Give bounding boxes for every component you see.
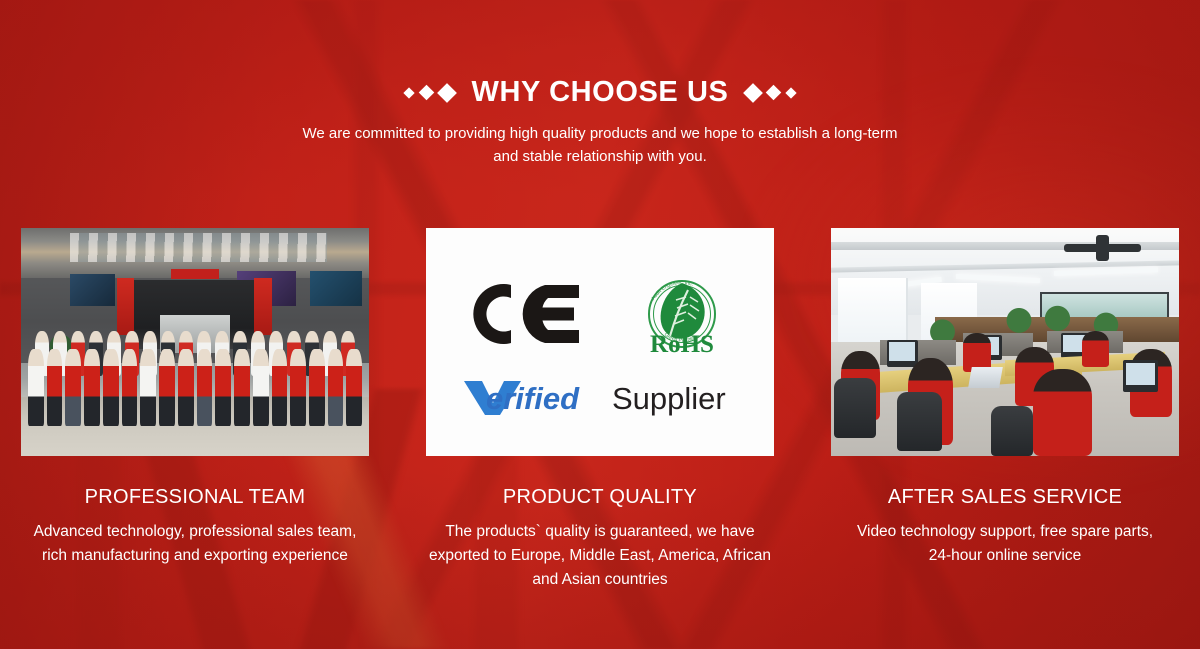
column-body: Video technology support, free spare par… <box>831 520 1179 568</box>
diamond-icon <box>419 85 435 101</box>
rohs-badge-icon: Audit Engineer, Inc. Green Partner RoHS <box>630 266 734 362</box>
office-staff-photo <box>831 228 1179 456</box>
banner-header: WHY CHOOSE US We are committed to provid… <box>0 0 1200 168</box>
feature-column-professional-team: PROFESSIONAL TEAM Advanced technology, p… <box>21 228 369 568</box>
diamond-icon <box>404 87 415 98</box>
team-group-photo <box>21 228 369 456</box>
svg-text:RoHS: RoHS <box>650 331 714 358</box>
feature-column-product-quality: Audit Engineer, Inc. Green Partner RoHS <box>426 228 774 592</box>
diamond-ornament-right-icon <box>746 86 795 100</box>
column-title: AFTER SALES SERVICE <box>831 486 1179 509</box>
certification-panel: Audit Engineer, Inc. Green Partner RoHS <box>426 228 774 456</box>
page-title: WHY CHOOSE US <box>471 76 728 109</box>
column-body: The products` quality is guaranteed, we … <box>426 520 774 592</box>
office-photo-illustration <box>831 228 1179 456</box>
svg-text:erified: erified <box>486 381 580 416</box>
diamond-ornament-left-icon <box>405 86 454 100</box>
why-choose-us-banner: WHY CHOOSE US We are committed to provid… <box>0 0 1200 649</box>
diamond-icon <box>785 87 796 98</box>
ce-mark-icon <box>466 277 584 351</box>
page-subtitle: We are committed to providing high quali… <box>290 122 910 168</box>
diamond-icon <box>743 83 763 103</box>
svg-text:Supplier: Supplier <box>612 381 726 416</box>
column-title: PRODUCT QUALITY <box>426 486 774 509</box>
team-photo-illustration <box>21 228 369 456</box>
diamond-icon <box>438 83 458 103</box>
verified-supplier-logo-icon: erified Supplier <box>460 372 740 418</box>
column-body: Advanced technology, professional sales … <box>21 520 369 568</box>
title-row: WHY CHOOSE US <box>0 76 1200 109</box>
column-title: PROFESSIONAL TEAM <box>21 486 369 509</box>
feature-columns: PROFESSIONAL TEAM Advanced technology, p… <box>0 228 1200 592</box>
feature-column-after-sales-service: AFTER SALES SERVICE Video technology sup… <box>831 228 1179 568</box>
diamond-icon <box>765 85 781 101</box>
